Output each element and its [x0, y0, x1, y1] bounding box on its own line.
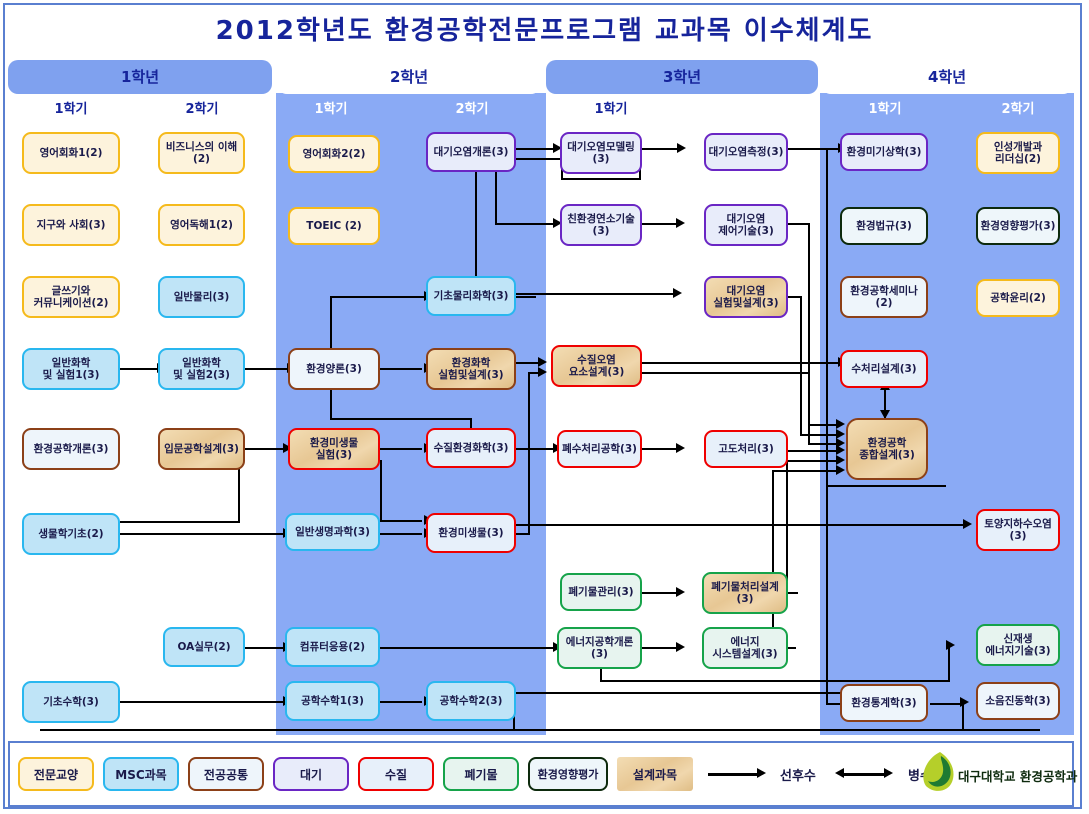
course-box[interactable]: 컴퓨터응용(2) — [285, 627, 380, 667]
legend-item-water[interactable]: 수질 — [358, 757, 434, 791]
semester-label-1-1: 1학기 — [11, 100, 131, 120]
course-box[interactable]: 공학수학2(3) — [426, 681, 516, 721]
course-box[interactable]: 영어회화2(2) — [288, 135, 380, 173]
coreq-arrow-line — [843, 773, 887, 776]
year-header-2: 2학년 — [277, 60, 541, 94]
legend-item-msc[interactable]: MSC과목 — [103, 757, 179, 791]
course-box[interactable]: 환경법규(3) — [840, 207, 928, 245]
course-box[interactable]: 입문공학설계(3) — [158, 428, 245, 470]
year-header-4: 4학년 — [821, 60, 1073, 94]
legend-item-gen[interactable]: 전문교양 — [18, 757, 94, 791]
prereq-arrow-line — [708, 773, 760, 776]
course-box[interactable]: 기초물리화학(3) — [426, 276, 516, 316]
legend-item-waste[interactable]: 폐기물 — [443, 757, 519, 791]
course-box[interactable]: 일반화학및 실험2(3) — [158, 348, 245, 390]
legend-item-common[interactable]: 전공공통 — [188, 757, 264, 791]
university-logo-icon — [922, 750, 958, 794]
course-box[interactable]: 소음진동학(3) — [976, 682, 1060, 720]
legend: 전문교양 MSC과목 전공공통 대기 수질 폐기물 환경영향평가 설계과목 선후… — [8, 741, 1074, 807]
legend-item-air[interactable]: 대기 — [273, 757, 349, 791]
course-box[interactable]: 환경양론(3) — [288, 348, 380, 390]
year-header-1: 1학년 — [8, 60, 272, 94]
course-box[interactable]: 글쓰기와커뮤니케이션(2) — [22, 276, 120, 318]
semester-label-4-2: 2학기 — [958, 100, 1078, 120]
course-box[interactable]: 수처리설계(3) — [840, 350, 928, 388]
course-box[interactable]: 인성개발과리더십(2) — [976, 132, 1060, 174]
course-box[interactable]: 수질오염요소설계(3) — [551, 345, 642, 387]
course-box[interactable]: 환경공학종합설계(3) — [846, 418, 928, 480]
course-box[interactable]: 폐수처리공학(3) — [557, 430, 642, 468]
course-box[interactable]: 일반물리(3) — [158, 276, 245, 318]
semester-label-2-2: 2학기 — [412, 100, 532, 120]
course-box[interactable]: 환경미생물(3) — [426, 513, 516, 553]
course-box[interactable]: 지구와 사회(3) — [22, 204, 120, 246]
course-box[interactable]: 영어독해1(2) — [158, 204, 245, 246]
course-box[interactable]: 대기오염개론(3) — [426, 132, 516, 172]
prereq-label: 선후수 — [780, 765, 816, 784]
semester-label-3-2: 2학기 — [687, 100, 807, 120]
page-title: 2012학년도 환경공학전문프로그램 교과목 이수체계도 — [0, 10, 1089, 47]
course-box[interactable]: 폐기물처리설계(3) — [702, 572, 788, 614]
semester-label-3-1: 1학기 — [551, 100, 671, 120]
course-box[interactable]: 대기오염제어기술(3) — [704, 204, 788, 246]
semester-label-1-2: 2학기 — [142, 100, 262, 120]
course-box[interactable]: 환경공학개론(3) — [22, 428, 120, 470]
course-box[interactable]: 수질환경화학(3) — [426, 428, 516, 468]
coreq-arrow-head-right — [884, 768, 893, 778]
curriculum-flowchart: 2012학년도 환경공학전문프로그램 교과목 이수체계도 1학년 2학년 3학년… — [0, 0, 1089, 814]
course-box[interactable]: 공학수학1(3) — [285, 681, 380, 721]
course-box[interactable]: 기초수학(3) — [22, 681, 120, 723]
course-box[interactable]: 환경공학세미나(2) — [840, 276, 928, 318]
course-box[interactable]: OA실무(2) — [163, 627, 245, 667]
course-box[interactable]: 일반화학및 실험1(3) — [22, 348, 120, 390]
course-box[interactable]: 에너지시스템설계(3) — [702, 627, 788, 669]
course-box[interactable]: 생물학기초(2) — [22, 513, 120, 555]
course-box[interactable]: 에너지공학개론(3) — [557, 627, 642, 669]
course-box[interactable]: 일반생명과학(3) — [285, 513, 380, 551]
course-box[interactable]: 폐기물관리(3) — [560, 573, 642, 611]
course-box[interactable]: 신재생에너지기술(3) — [976, 624, 1060, 666]
prereq-arrow-head — [757, 768, 766, 778]
course-box[interactable]: 환경화학실험및설계(3) — [426, 348, 516, 390]
university-logo-text: 대구대학교 환경공학과 — [958, 766, 1077, 785]
semester-label-2-1: 1학기 — [271, 100, 391, 120]
legend-item-design[interactable]: 설계과목 — [617, 757, 693, 791]
semester-label-4-1: 1학기 — [825, 100, 945, 120]
course-box[interactable]: 환경통계학(3) — [840, 684, 928, 722]
course-box[interactable]: 고도처리(3) — [704, 430, 788, 468]
course-box[interactable]: 대기오염실험및설계(3) — [704, 276, 788, 318]
year-header-3: 3학년 — [546, 60, 818, 94]
course-box[interactable]: 환경미기상학(3) — [840, 133, 928, 171]
course-box[interactable]: 환경영향평가(3) — [976, 207, 1060, 245]
course-box[interactable]: 영어회화1(2) — [22, 132, 120, 174]
course-box[interactable]: TOEIC (2) — [288, 207, 380, 245]
course-box[interactable]: 비즈니스의 이해(2) — [158, 132, 245, 174]
course-box[interactable]: 토양지하수오염(3) — [976, 509, 1060, 551]
course-box[interactable]: 공학윤리(2) — [976, 279, 1060, 317]
course-box[interactable]: 친환경연소기술(3) — [560, 204, 642, 246]
course-box[interactable]: 대기오염모델링(3) — [560, 132, 642, 174]
course-box[interactable]: 대기오염측정(3) — [704, 133, 788, 171]
course-box[interactable]: 환경미생물실험(3) — [288, 428, 380, 470]
legend-item-eia[interactable]: 환경영향평가 — [528, 757, 608, 791]
